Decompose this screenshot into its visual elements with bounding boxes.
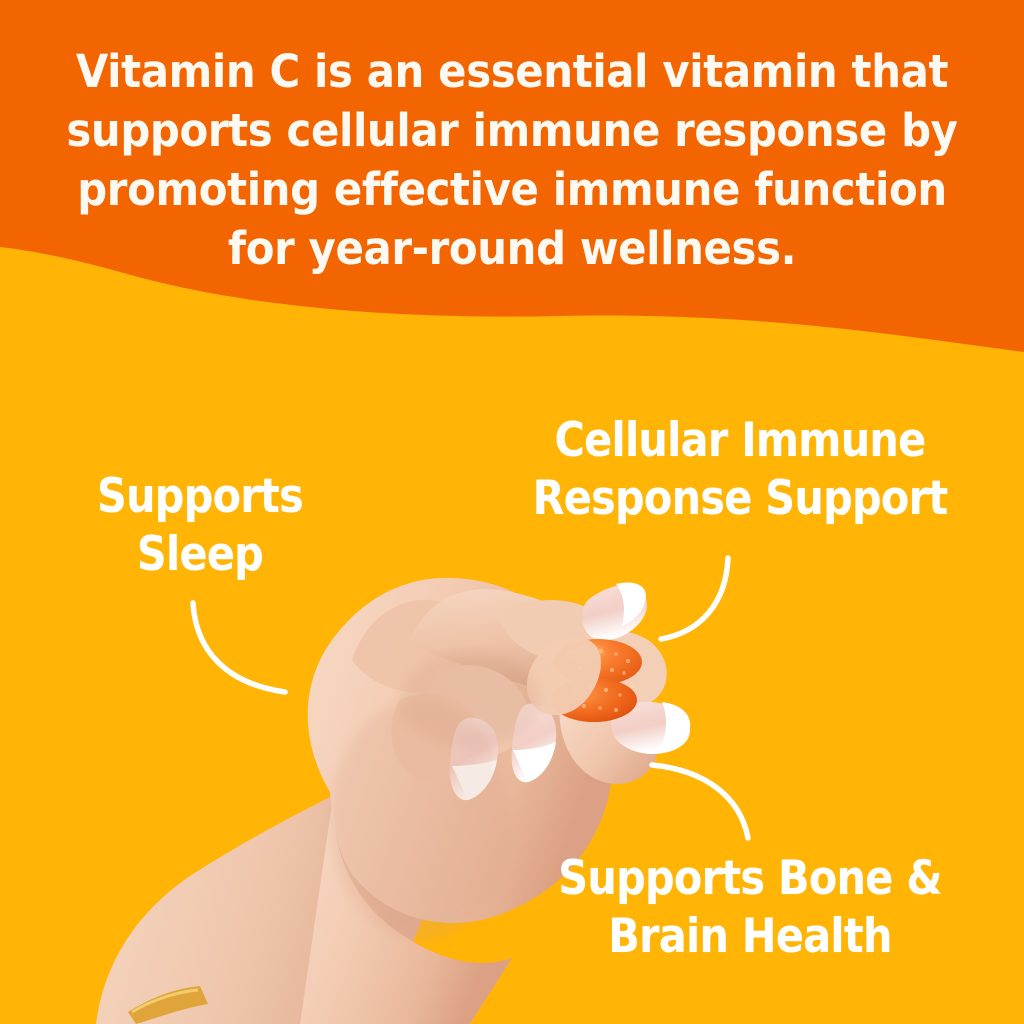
nail-index xyxy=(582,585,647,640)
nail-ring xyxy=(512,704,557,782)
index-finger-tip xyxy=(498,600,615,665)
benefit-label-sleep: Supports Sleep xyxy=(42,468,359,584)
gummy-bottom xyxy=(551,678,637,722)
folded-finger-ring xyxy=(392,693,484,783)
nail-ring-tip xyxy=(513,742,556,782)
nail-middle-tip xyxy=(452,760,497,800)
arc-pointer-sleep xyxy=(193,603,285,692)
arc-pointer-bone-brain xyxy=(652,765,748,838)
gummy-sugar-coating xyxy=(556,645,633,712)
gummy-stack xyxy=(551,639,642,722)
benefit-label-cellular-immune: Cellular Immune Response Support xyxy=(502,412,977,528)
arc-pointer-cellular-immune xyxy=(661,558,728,639)
thumb-upper xyxy=(570,631,667,709)
benefit-label-bone-brain: Supports Bone & Brain Health xyxy=(512,850,987,966)
knuckle-ridge xyxy=(352,600,477,693)
thumb-front-overlap xyxy=(527,637,601,715)
promo-graphic-canvas: Vitamin C is an essential vitamin that s… xyxy=(0,0,1024,1024)
nail-middle xyxy=(450,718,498,800)
gummy-top-highlight xyxy=(568,645,604,659)
palm-lower xyxy=(300,790,512,1024)
folded-finger-middle xyxy=(429,665,528,756)
page-headline: Vitamin C is an essential vitamin that s… xyxy=(36,42,988,278)
thumb xyxy=(559,688,658,784)
forearm xyxy=(96,792,430,1024)
nail-thumb xyxy=(611,702,690,754)
nail-index-tip xyxy=(616,583,646,627)
index-finger xyxy=(410,589,624,695)
palm-shadow xyxy=(330,700,510,940)
gummy-top xyxy=(554,639,642,685)
knuckle-shadow xyxy=(400,652,540,748)
nail-thumb-tip xyxy=(658,702,690,750)
gold-bracelet xyxy=(128,986,208,1024)
